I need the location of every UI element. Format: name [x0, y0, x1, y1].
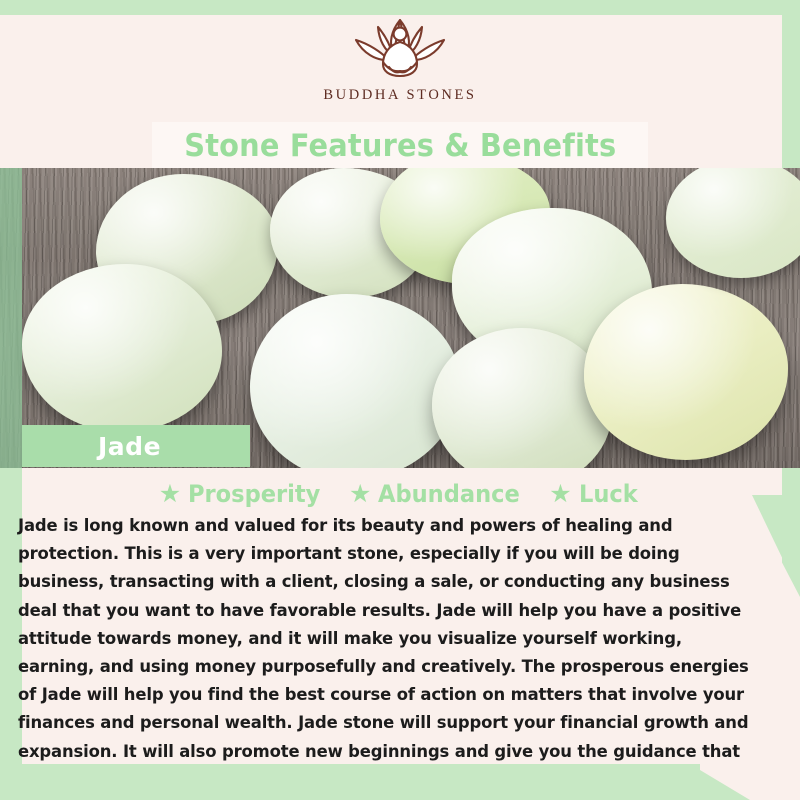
star-icon: ★	[549, 482, 571, 507]
brand-name: BUDDHA STONES	[323, 87, 476, 104]
benefit-item-prosperity: ★ Prosperity	[159, 480, 329, 508]
stone-6	[250, 294, 460, 468]
benefit-label: Luck	[579, 480, 638, 508]
stone-name-banner: Jade	[22, 425, 250, 467]
decoration-photo-overlay-left	[0, 168, 22, 468]
description-text: Jade is long known and valued for its be…	[18, 512, 755, 794]
infographic-canvas: BUDDHA STONES Stone Features & Benefits …	[0, 0, 800, 800]
decoration-top-bar	[0, 0, 800, 15]
stone-9	[666, 168, 800, 278]
benefit-label: Abundance	[378, 480, 520, 508]
star-icon: ★	[159, 482, 181, 507]
lotus-meditation-icon	[325, 14, 475, 86]
star-icon: ★	[349, 482, 371, 507]
stone-photo	[0, 168, 800, 468]
benefit-label: Prosperity	[188, 480, 320, 508]
stone-8	[584, 284, 788, 460]
brand-header: BUDDHA STONES	[0, 14, 800, 118]
stone-5	[22, 264, 222, 432]
page-title: Stone Features & Benefits	[184, 128, 616, 164]
decoration-right-point	[782, 555, 800, 597]
benefit-item-luck: ★ Luck	[549, 480, 641, 508]
benefits-row: ★ Prosperity ★ Abundance ★ Luck	[22, 478, 778, 510]
stone-name: Jade	[98, 432, 161, 461]
decoration-bottom-bar	[0, 764, 700, 800]
benefit-item-abundance: ★ Abundance	[349, 480, 529, 508]
title-banner: Stone Features & Benefits	[152, 122, 648, 170]
